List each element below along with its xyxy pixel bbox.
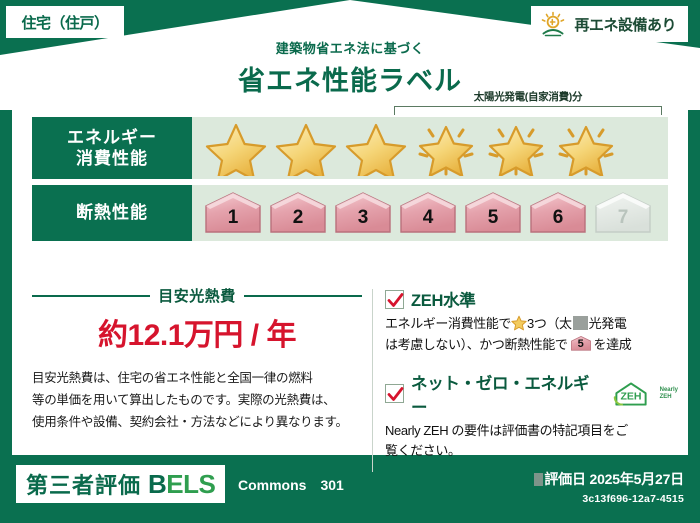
svg-text:ZEH: ZEH <box>620 390 641 402</box>
energy-label-root: 住宅（住戸） 再エネ設備あり 建築物省エネ法に基づく 省エネ性能ラベル <box>0 0 700 523</box>
energy-performance-label: エネルギー 消費性能 <box>32 117 192 179</box>
footer: 第三者評価 BELS Commons301 評価日 2025年5月27日 3c1… <box>0 455 700 523</box>
star-4-solar <box>412 120 480 176</box>
energy-stars-panel <box>192 117 668 179</box>
label-body-card: エネルギー 消費性能 <box>12 95 688 455</box>
evaluation-date-row: 評価日 2025年5月27日 <box>534 469 684 489</box>
zeh-netzero-title-row: ネット・ゼロ・エネルギー ZEH Nearly ZEH <box>385 370 678 418</box>
energy-label-line2: 消費性能 <box>76 148 148 169</box>
bels-logo: 第三者評価 BELS <box>16 465 225 503</box>
bels-jp-label: 第三者評価 <box>26 468 141 500</box>
insulation-performance-row: 断熱性能 <box>32 185 668 241</box>
zeh-desc-part-a: エネルギー消費性能で <box>385 316 511 331</box>
housing-type-label: 住宅（住戸） <box>21 12 108 33</box>
solar-sun-icon <box>539 11 567 37</box>
cost-rule-right <box>244 295 362 297</box>
commons-label: Commons <box>238 477 306 493</box>
housing-type-tag: 住宅（住戸） <box>6 6 124 38</box>
energy-performance-row: エネルギー 消費性能 <box>32 117 668 179</box>
star-3 <box>342 120 410 176</box>
zeh-column: ZEH水準 エネルギー消費性能で3つ（太光発電 は考慮しない）、かつ断熱性能で5… <box>385 285 678 476</box>
insulation-badge-1-num: 1 <box>202 207 264 229</box>
cost-heading: 目安光熱費 <box>158 285 236 306</box>
inline-star-icon <box>511 315 527 331</box>
evaluation-info: 評価日 2025年5月27日 3c13f696-12a7-4515 <box>534 469 684 505</box>
star-6-solar <box>552 120 620 176</box>
insulation-badge-3: 3 <box>332 191 394 235</box>
header-title: 省エネ性能ラベル <box>0 59 700 98</box>
zeh-standard-title-row: ZEH水準 <box>385 287 678 311</box>
cost-column: 目安光熱費 約12.1万円 / 年 目安光熱費は、住宅の省エネ性能と全国一律の燃… <box>32 285 372 476</box>
insulation-badge-5: 5 <box>462 191 524 235</box>
zeh-house-logo-icon: ZEH <box>609 381 653 407</box>
insulation-badge-1: 1 <box>202 191 264 235</box>
insulation-badge-2: 2 <box>267 191 329 235</box>
cost-note-line1: 目安光熱費は、住宅の省エネ性能と全国一律の燃料 <box>32 368 362 390</box>
star-1 <box>202 120 270 176</box>
zeh-netzero-checkbox <box>385 384 404 403</box>
zeh-standard-desc: エネルギー消費性能で3つ（太光発電 は考慮しない）、かつ断熱性能で5を達成 <box>385 314 678 356</box>
zeh-nearly-line1: Nearly <box>660 387 678 394</box>
redacted-char-block <box>573 316 588 330</box>
check-icon <box>386 291 405 310</box>
zeh-nearly-sublabel: Nearly ZEH <box>660 387 678 400</box>
renewable-equipment-badge: 再エネ設備あり <box>531 6 688 42</box>
zeh-desc-part-c: 光発電 <box>589 316 627 331</box>
insulation-badge-3-num: 3 <box>332 207 394 229</box>
zeh-nearly-line2: ZEH <box>660 394 678 401</box>
insulation-level-badges: 1 2 <box>202 191 654 235</box>
zeh-netzero-title: ネット・ゼロ・エネルギー <box>411 370 602 418</box>
zeh-standard-block: ZEH水準 エネルギー消費性能で3つ（太光発電 は考慮しない）、かつ断熱性能で5… <box>385 287 678 356</box>
check-icon <box>386 385 405 404</box>
cost-value: 約12.1万円 / 年 <box>32 310 362 354</box>
renewable-badge-label: 再エネ設備あり <box>574 14 676 35</box>
insulation-performance-label: 断熱性能 <box>32 185 192 241</box>
bels-en-label: BELS <box>148 469 215 500</box>
zeh-netzero-block: ネット・ゼロ・エネルギー ZEH Nearly ZEH Nearly ZEH の… <box>385 370 678 463</box>
cost-heading-row: 目安光熱費 <box>32 285 362 306</box>
evaluation-date-value: 2025年5月27日 <box>589 471 684 487</box>
insulation-badge-5-num: 5 <box>462 207 524 229</box>
insulation-label-text: 断熱性能 <box>76 202 148 223</box>
column-divider <box>372 289 373 472</box>
zeh-standard-title: ZEH水準 <box>411 287 476 311</box>
insulation-badges-panel: 1 2 <box>192 185 668 241</box>
insulation-badge-7: 7 <box>592 191 654 235</box>
header-titles: 建築物省エネ法に基づく 省エネ性能ラベル <box>0 38 700 98</box>
performance-section: エネルギー 消費性能 <box>32 117 668 247</box>
evaluation-date-label: 評価日 <box>544 471 585 487</box>
zeh-netzero-desc-line1: Nearly ZEH の要件は評価書の特記項目をご <box>385 421 678 442</box>
commons-number: 301 <box>320 477 343 493</box>
bels-letter-b: B <box>148 469 166 499</box>
energy-label-line1: エネルギー <box>67 127 157 148</box>
insulation-badge-4: 4 <box>397 191 459 235</box>
zeh-desc-part-b: 3つ（太 <box>527 316 572 331</box>
cost-note-line3: 使用条件や設備、契約会社・方法などにより異なります。 <box>32 412 362 434</box>
insulation-badge-6: 6 <box>527 191 589 235</box>
cost-note: 目安光熱費は、住宅の省エネ性能と全国一律の燃料 等の単価を用いて算出したものです… <box>32 368 362 434</box>
star-5-solar <box>482 120 550 176</box>
star-rating <box>202 120 620 176</box>
evaluation-id: 3c13f696-12a7-4515 <box>534 493 684 505</box>
insulation-badge-6-num: 6 <box>527 207 589 229</box>
inline-insulation-badge: 5 <box>570 335 592 352</box>
star-2 <box>272 120 340 176</box>
lower-section: 目安光熱費 約12.1万円 / 年 目安光熱費は、住宅の省エネ性能と全国一律の燃… <box>32 285 678 476</box>
commons-info: Commons301 <box>238 477 344 493</box>
redacted-char-block-2 <box>534 473 543 486</box>
zeh-standard-checkbox <box>385 290 404 309</box>
insulation-badge-7-num: 7 <box>592 207 654 229</box>
bels-letters-els: ELS <box>166 469 215 499</box>
inline-badge-num: 5 <box>570 335 592 352</box>
cost-rule-left <box>32 295 150 297</box>
insulation-badge-2-num: 2 <box>267 207 329 229</box>
cost-note-line2: 等の単価を用いて算出したものです。実際の光熱費は、 <box>32 390 362 412</box>
insulation-badge-4-num: 4 <box>397 207 459 229</box>
zeh-desc-part-d: は考慮しない）、かつ断熱性能で <box>385 337 568 352</box>
zeh-desc-part-e: を達成 <box>594 337 632 352</box>
solar-bracket-line <box>394 106 662 115</box>
